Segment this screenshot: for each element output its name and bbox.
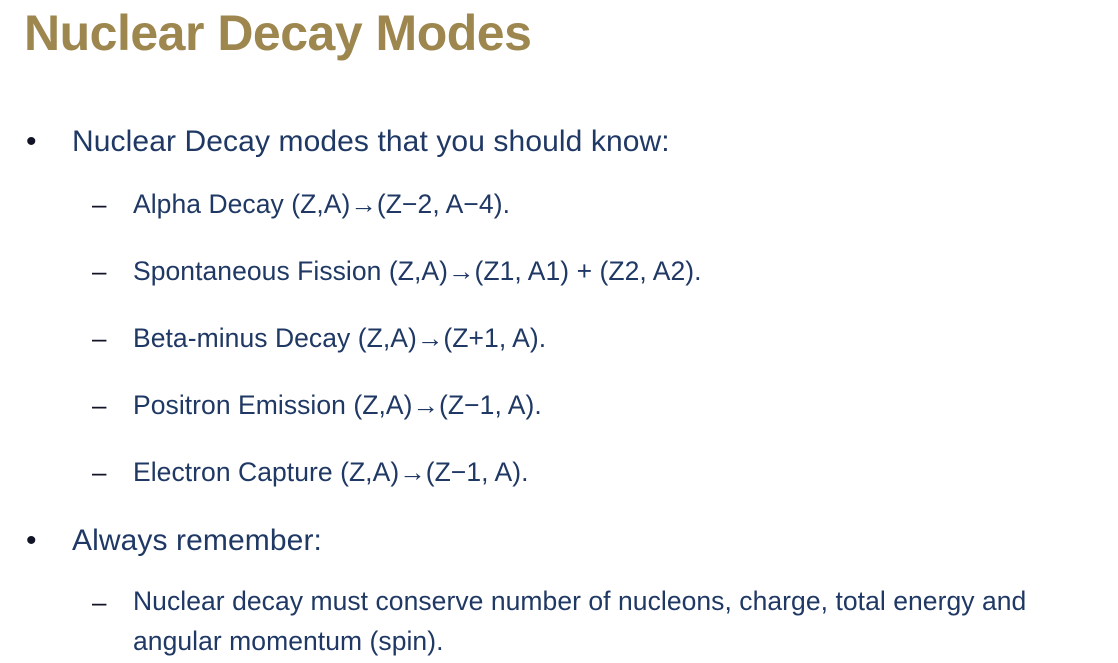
bullet-dash-icon: –: [92, 183, 116, 225]
bullet-dash-icon: –: [92, 317, 116, 359]
list-item-label: Alpha Decay (Z,A)→(Z−2, A−4).: [133, 183, 1118, 225]
list-item: – Nuclear decay must conserve number of …: [0, 581, 1118, 661]
bullet-dash-icon: –: [92, 451, 116, 493]
page-title: Nuclear Decay Modes: [24, 2, 531, 64]
list-item: – Alpha Decay (Z,A)→(Z−2, A−4).: [0, 183, 1118, 227]
list-item: – Electron Capture (Z,A)→(Z−1, A).: [0, 451, 1118, 495]
list-item-label: Beta-minus Decay (Z,A)→(Z+1, A).: [133, 317, 1118, 359]
list-item-label: Electron Capture (Z,A)→(Z−1, A).: [133, 451, 1118, 493]
list-item: • Nuclear Decay modes that you should kn…: [0, 120, 1118, 168]
list-item-label: Always remember:: [72, 519, 1118, 563]
spacer: [0, 168, 1118, 183]
list-item-label: Nuclear Decay modes that you should know…: [72, 120, 1118, 164]
spacer: [0, 227, 1118, 250]
bullet-dot-icon: •: [26, 519, 44, 563]
list-item: – Beta-minus Decay (Z,A)→(Z+1, A).: [0, 317, 1118, 361]
spacer: [0, 567, 1118, 581]
list-item-label: Spontaneous Fission (Z,A)→(Z1, A1) + (Z2…: [133, 250, 1118, 292]
list-item-label: Positron Emission (Z,A)→(Z−1, A).: [133, 384, 1118, 426]
spacer: [0, 428, 1118, 451]
bullet-dash-icon: –: [92, 384, 116, 426]
list-item: • Always remember:: [0, 519, 1118, 567]
spacer: [0, 294, 1118, 317]
slide-canvas: Nuclear Decay Modes • Nuclear Decay mode…: [0, 0, 1118, 663]
spacer: [0, 495, 1118, 519]
spacer: [0, 361, 1118, 384]
list-item-label: Nuclear decay must conserve number of nu…: [133, 581, 1098, 661]
bullet-dash-icon: –: [92, 250, 116, 292]
bullet-dash-icon: –: [92, 581, 116, 623]
bullet-dot-icon: •: [26, 120, 44, 164]
list-item: – Positron Emission (Z,A)→(Z−1, A).: [0, 384, 1118, 428]
list-item: – Spontaneous Fission (Z,A)→(Z1, A1) + (…: [0, 250, 1118, 294]
slide-body-content: • Nuclear Decay modes that you should kn…: [0, 120, 1118, 661]
